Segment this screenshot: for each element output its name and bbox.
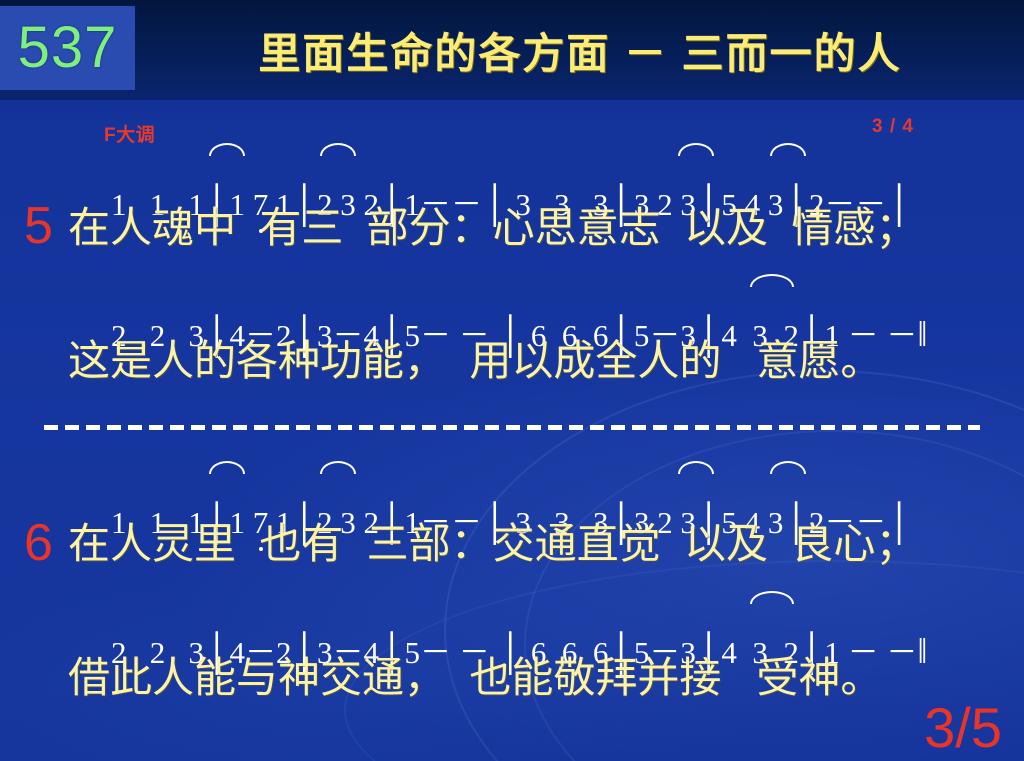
time-signature-label: 3 / 4	[872, 116, 914, 138]
lyric-line-3: 在人灵里 也有 三部：交通直觉 以及 良心；	[68, 521, 917, 567]
song-number: 537	[18, 19, 118, 77]
lyric-line-4: 借此人能与神交通， 也能敬拜并接 受神。	[68, 655, 882, 701]
song-number-badge: 537	[0, 6, 135, 90]
page-title: 里面生命的各方面 － 三而一的人	[150, 30, 1010, 78]
final-barline: ‖	[917, 314, 923, 354]
slide-header: 537 里面生命的各方面 － 三而一的人	[0, 0, 1024, 100]
verse-number-5: 5	[24, 200, 53, 252]
verse-number-6: 6	[24, 517, 53, 569]
final-barline: ‖	[917, 631, 923, 671]
slide-canvas: 537 里面生命的各方面 － 三而一的人 F大调 3 / 4 1 1 1│1 7…	[0, 0, 1024, 761]
lyric-line-2: 这是人的各种功能， 用以成全人的 意愿。	[68, 338, 882, 384]
section-divider	[44, 425, 980, 430]
page-indicator: 3/5	[924, 699, 1002, 757]
key-signature-label: F大调	[104, 120, 155, 147]
lyric-line-1: 在人魂中 有三 部分：心思意志 以及 情感；	[68, 205, 917, 251]
